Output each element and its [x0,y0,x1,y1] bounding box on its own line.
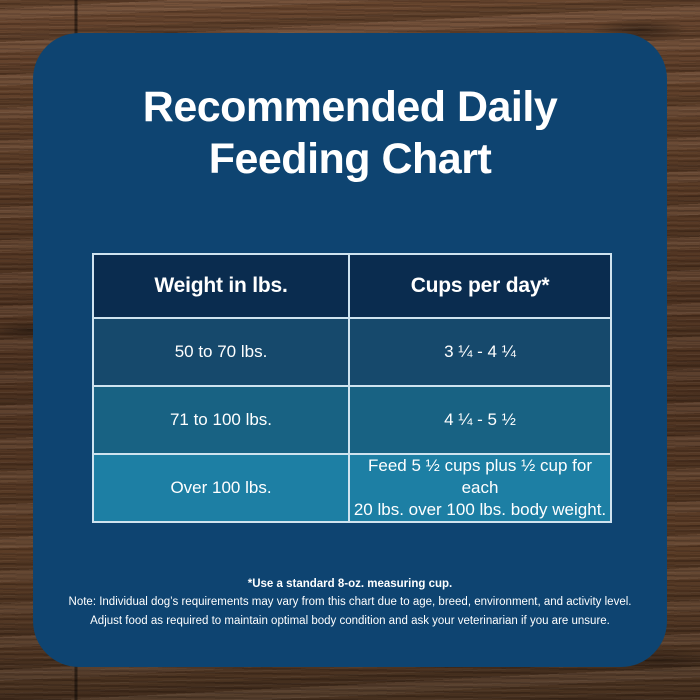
cell-weight-range: 71 to 100 lbs. [93,386,349,454]
cell-cups-per-day: 4 ¼ - 5 ½ [349,386,611,454]
cell-weight-range-text: 71 to 100 lbs. [94,409,348,431]
cell-cups-per-day-text-line-2: 20 lbs. over 100 lbs. body weight. [350,499,610,521]
page-title-line-1: Recommended Daily [33,81,667,133]
footnote-measuring-cup: *Use a standard 8-oz. measuring cup. [33,575,667,593]
table-row: 71 to 100 lbs. 4 ¼ - 5 ½ [93,386,611,454]
footnotes: *Use a standard 8-oz. measuring cup. Not… [33,575,667,631]
page-title: Recommended Daily Feeding Chart [33,81,667,185]
cell-cups-per-day-text: 4 ¼ - 5 ½ [350,409,610,431]
column-header-cups: Cups per day* [349,254,611,318]
cell-weight-range: 50 to 70 lbs. [93,318,349,386]
feeding-chart-card: Recommended Daily Feeding Chart Weight i… [33,33,667,667]
table-row: Over 100 lbs. Feed 5 ½ cups plus ½ cup f… [93,454,611,522]
cell-cups-per-day: Feed 5 ½ cups plus ½ cup for each 20 lbs… [349,454,611,522]
cell-weight-range: Over 100 lbs. [93,454,349,522]
table-row: 50 to 70 lbs. 3 ¼ - 4 ¼ [93,318,611,386]
cell-weight-range-text: 50 to 70 lbs. [94,341,348,363]
cell-cups-per-day-text-line-1: Feed 5 ½ cups plus ½ cup for each [350,455,610,499]
column-header-weight: Weight in lbs. [93,254,349,318]
table-header-row: Weight in lbs. Cups per day* [93,254,611,318]
cell-cups-per-day: 3 ¼ - 4 ¼ [349,318,611,386]
footnote-note-line-1: Note: Individual dog’s requirements may … [33,593,667,612]
cell-cups-per-day-text: 3 ¼ - 4 ¼ [350,341,610,363]
page-title-line-2: Feeding Chart [33,133,667,185]
cell-weight-range-text: Over 100 lbs. [94,477,348,499]
feeding-chart-table: Weight in lbs. Cups per day* 50 to 70 lb… [92,253,612,523]
footnote-note-line-2: Adjust food as required to maintain opti… [33,612,667,631]
